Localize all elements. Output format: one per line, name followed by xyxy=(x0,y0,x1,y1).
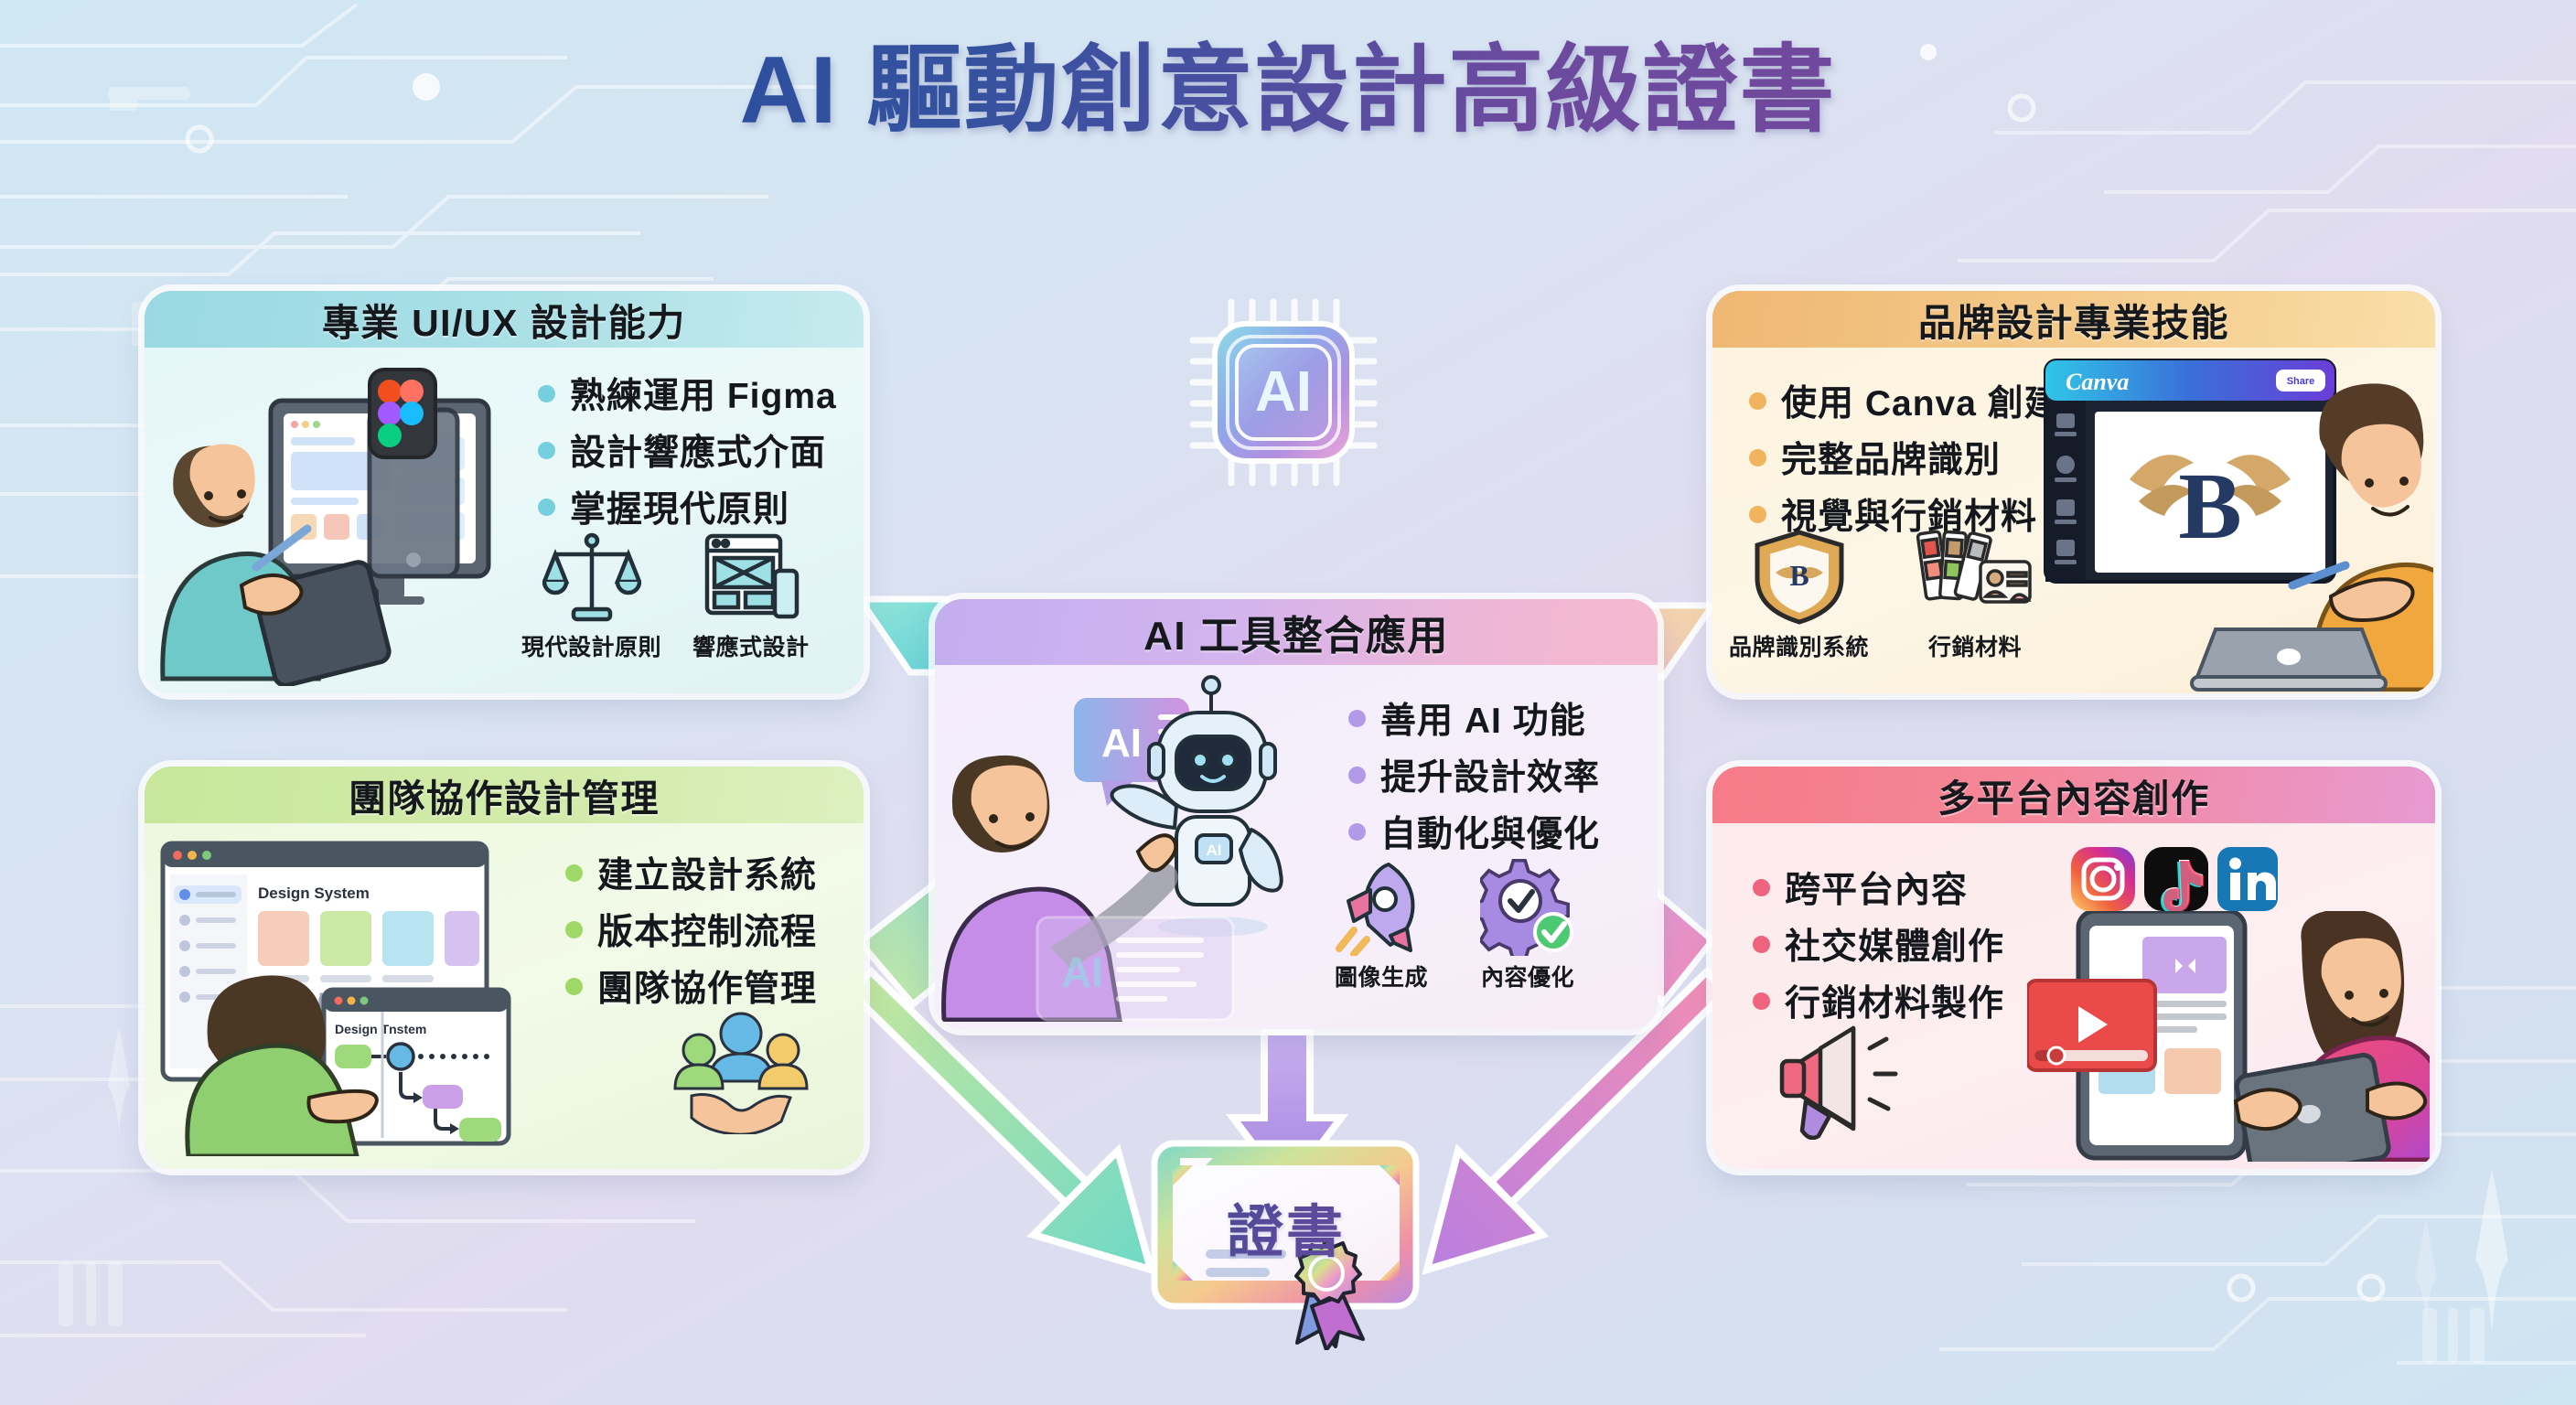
bullet-dot xyxy=(538,499,555,516)
bullet-text: 團隊協作管理 xyxy=(597,960,817,1012)
color-swatch-card-icon xyxy=(1916,529,2034,626)
icon-caption: 行銷材料 xyxy=(1928,629,2022,662)
bullet-dot xyxy=(1753,936,1770,953)
ai-chip: AI xyxy=(1186,295,1381,490)
bullet-text: 版本控制流程 xyxy=(597,904,817,955)
tiktok-icon xyxy=(2144,847,2208,913)
ai-chip-label: AI xyxy=(1255,360,1312,424)
bullet-item: 善用 AI 功能 xyxy=(1348,692,1600,744)
bullet-item: 版本控制流程 xyxy=(565,904,817,955)
icon-cell: 內容優化 xyxy=(1480,859,1575,992)
page-title: AI 驅動創意設計高級證書 xyxy=(740,37,1837,146)
illustration-content-creator-tablet xyxy=(2027,911,2430,1162)
card-uiux[interactable]: 專業 UI/UX 設計能力 xyxy=(145,291,864,693)
bullet-item: 提升設計效率 xyxy=(1348,749,1600,800)
canva-logo-label: Canva xyxy=(2066,369,2129,395)
icon-cell: 圖像生成 xyxy=(1334,859,1429,992)
svg-text:B: B xyxy=(1789,559,1809,592)
bullet-dot xyxy=(1348,767,1366,784)
responsive-layout-icon xyxy=(702,531,800,626)
illustration-ai-robot-assistant: AI AI xyxy=(940,672,1343,1022)
screen-label-design-tnstem: Design Tnstem xyxy=(335,1022,426,1036)
bullet-item: 團隊協作管理 xyxy=(565,960,817,1012)
illustration-designer-tablet xyxy=(154,357,538,686)
brand-shield-icon: B xyxy=(1750,529,1849,626)
bullet-dot xyxy=(565,864,583,882)
bullet-dot xyxy=(1749,449,1766,467)
card-ai-bullets: 善用 AI 功能 提升設計效率 自動化與優化 xyxy=(1348,692,1600,857)
svg-text:AI: AI xyxy=(1061,949,1103,996)
icon-caption: 現代設計原則 xyxy=(521,629,661,662)
bullet-text: 建立設計系統 xyxy=(597,847,817,898)
bullet-item: 熟練運用 Figma xyxy=(538,368,837,419)
linkedin-icon xyxy=(2217,847,2278,911)
team-handshake-icon xyxy=(668,1006,814,1134)
certificate-label: 證書 xyxy=(1149,1185,1423,1268)
bullet-item: 掌握現代原則 xyxy=(538,481,837,532)
icon-cell: 現代設計原則 xyxy=(521,531,661,662)
icon-caption: 內容優化 xyxy=(1481,960,1574,992)
gear-check-icon xyxy=(1480,859,1575,956)
bullet-text: 行銷材料製作 xyxy=(1785,975,2004,1026)
bullet-dot xyxy=(1348,823,1366,841)
card-team-body: Design System Design Tnstem xyxy=(145,823,864,1169)
bullet-dot xyxy=(565,921,583,938)
icon-caption: 品牌識別系統 xyxy=(1729,629,1869,662)
illustration-design-system-boards: Design System Design Tnstem xyxy=(156,836,558,1156)
card-uiux-bullets: 熟練運用 Figma 設計響應式介面 掌握現代原則 xyxy=(538,368,837,532)
card-team-title: 團隊協作設計管理 xyxy=(145,767,864,823)
card-ai-tools[interactable]: AI 工具整合應用 AI xyxy=(935,599,1658,1029)
card-multi-bullets: 跨平台內容 社交媒體創作 行銷材料製作 xyxy=(1753,862,2004,1026)
instagram-icon xyxy=(2071,847,2135,911)
bullet-dot xyxy=(1753,879,1770,896)
bullet-item: 自動化與優化 xyxy=(1348,806,1600,857)
icon-caption: 圖像生成 xyxy=(1335,960,1428,992)
card-ai-title: AI 工具整合應用 xyxy=(935,599,1658,665)
card-brand[interactable]: 品牌設計專業技能 使用 Canva 創建 完整品牌識別 視覺與行銷材料 xyxy=(1712,291,2435,693)
card-multi-platform[interactable]: 多平台內容創作 跨平台內容 社交媒體創作 行銷材料製作 xyxy=(1712,767,2435,1169)
bullet-item: 設計響應式介面 xyxy=(538,424,837,476)
balance-scale-icon xyxy=(542,531,641,626)
bullet-dot xyxy=(1753,992,1770,1010)
certificate-badge[interactable]: 證書 xyxy=(1149,1140,1423,1350)
bullet-item: 完整品牌識別 xyxy=(1749,432,2061,483)
bullet-text: 使用 Canva 創建 xyxy=(1781,375,2061,426)
card-uiux-icons: 現代設計原則 響應式設計 xyxy=(521,531,810,662)
page-title-wrapper: AI 驅動創意設計高級證書 xyxy=(0,37,2576,146)
bullet-dot xyxy=(1348,710,1366,727)
icon-cell: 行銷材料 xyxy=(1916,529,2034,662)
bullet-dot xyxy=(1749,506,1766,523)
bullet-text: 善用 AI 功能 xyxy=(1380,692,1586,744)
bullet-item: 跨平台內容 xyxy=(1753,862,2004,913)
card-multi-body: 跨平台內容 社交媒體創作 行銷材料製作 xyxy=(1712,823,2435,1169)
card-multi-title: 多平台內容創作 xyxy=(1712,767,2435,823)
bullet-text: 提升設計效率 xyxy=(1380,749,1600,800)
rocket-icon xyxy=(1334,859,1429,956)
icon-caption: 響應式設計 xyxy=(692,629,810,662)
card-team[interactable]: 團隊協作設計管理 Design System xyxy=(145,767,864,1169)
card-uiux-body: 熟練運用 Figma 設計響應式介面 掌握現代原則 xyxy=(145,348,864,693)
card-brand-title: 品牌設計專業技能 xyxy=(1712,291,2435,348)
bullet-dot xyxy=(1749,392,1766,410)
bullet-text: 設計響應式介面 xyxy=(570,424,826,476)
bullet-dot xyxy=(538,385,555,402)
card-team-bullets: 建立設計系統 版本控制流程 團隊協作管理 xyxy=(565,847,817,1012)
screen-label-design-system: Design System xyxy=(258,885,370,902)
ai-bubble-label: AI xyxy=(1101,721,1142,766)
bullet-text: 完整品牌識別 xyxy=(1781,432,2001,483)
bullet-item: 使用 Canva 創建 xyxy=(1749,375,2061,426)
brand-letter-b: B xyxy=(2178,454,2241,559)
card-ai-body: AI AI xyxy=(935,665,1658,1029)
megaphone-icon xyxy=(1769,1021,1906,1140)
bullet-dot xyxy=(538,442,555,459)
bullet-item: 行銷材料製作 xyxy=(1753,975,2004,1026)
card-brand-bullets: 使用 Canva 創建 完整品牌識別 視覺與行銷材料 xyxy=(1749,375,2061,540)
bullet-item: 社交媒體創作 xyxy=(1753,918,2004,970)
svg-text:AI: AI xyxy=(1207,842,1222,859)
canva-share-label: Share xyxy=(2287,376,2315,387)
bullet-item: 建立設計系統 xyxy=(565,847,817,898)
bullet-text: 社交媒體創作 xyxy=(1785,918,2004,970)
bullet-text: 熟練運用 Figma xyxy=(570,368,837,419)
icon-cell: 響應式設計 xyxy=(692,531,810,662)
bullet-text: 跨平台內容 xyxy=(1785,862,1968,913)
card-brand-icons: B 品牌識別系統 xyxy=(1729,529,2034,662)
bullet-text: 掌握現代原則 xyxy=(570,481,789,532)
social-icons-row xyxy=(2069,843,2280,918)
bullet-dot xyxy=(565,978,583,995)
bullet-text: 自動化與優化 xyxy=(1380,806,1600,857)
icon-cell: B 品牌識別系統 xyxy=(1729,529,1869,662)
card-ai-icons: 圖像生成 內容優化 xyxy=(1334,859,1575,992)
illustration-canva-brand-designer: Canva Share B xyxy=(2040,355,2433,692)
card-uiux-title: 專業 UI/UX 設計能力 xyxy=(145,291,864,348)
card-brand-body: 使用 Canva 創建 完整品牌識別 視覺與行銷材料 B 品牌識別系統 xyxy=(1712,348,2435,693)
